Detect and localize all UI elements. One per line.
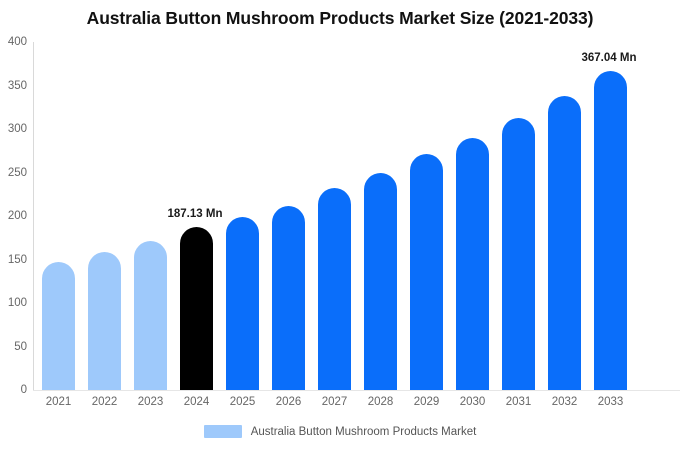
x-axis-baseline bbox=[33, 390, 680, 391]
x-axis-tick-2032: 2032 bbox=[542, 396, 588, 408]
bar-2023[interactable] bbox=[134, 241, 167, 390]
bar-2029[interactable] bbox=[410, 154, 443, 390]
x-axis-tick-2029: 2029 bbox=[404, 396, 450, 408]
bar-2027[interactable] bbox=[318, 188, 351, 390]
x-axis-tick-2024: 2024 bbox=[174, 396, 220, 408]
y-axis-tick-200: 200 bbox=[0, 210, 27, 222]
x-axis-tick-2023: 2023 bbox=[128, 396, 174, 408]
y-axis-tick-350: 350 bbox=[0, 80, 27, 92]
x-axis-tick-2028: 2028 bbox=[358, 396, 404, 408]
legend-label-0[interactable]: Australia Button Mushroom Products Marke… bbox=[251, 426, 477, 438]
x-axis-tick-2021: 2021 bbox=[36, 396, 82, 408]
legend-swatch-0 bbox=[204, 425, 242, 438]
y-axis-tick-50: 50 bbox=[0, 341, 27, 353]
value-label-2024: 187.13 Mn bbox=[168, 208, 223, 220]
x-axis-tick-2031: 2031 bbox=[496, 396, 542, 408]
bar-2021[interactable] bbox=[42, 262, 75, 390]
x-axis-tick-2030: 2030 bbox=[450, 396, 496, 408]
y-axis-tick-250: 250 bbox=[0, 167, 27, 179]
x-axis-tick-2025: 2025 bbox=[220, 396, 266, 408]
bar-2026[interactable] bbox=[272, 206, 305, 390]
x-axis-tick-2027: 2027 bbox=[312, 396, 358, 408]
bar-2030[interactable] bbox=[456, 138, 489, 390]
y-axis-tick-150: 150 bbox=[0, 254, 27, 266]
bar-2024[interactable] bbox=[180, 227, 213, 390]
bar-2022[interactable] bbox=[88, 252, 121, 390]
y-axis-tick-300: 300 bbox=[0, 123, 27, 135]
y-axis-tick-400: 400 bbox=[0, 36, 27, 48]
y-axis-labels: 050100150200250300350400 bbox=[0, 42, 27, 390]
bar-2025[interactable] bbox=[226, 217, 259, 390]
chart-legend: Australia Button Mushroom Products Marke… bbox=[0, 425, 680, 438]
y-axis-tick-0: 0 bbox=[0, 384, 27, 396]
x-axis-tick-2026: 2026 bbox=[266, 396, 312, 408]
value-label-2033: 367.04 Mn bbox=[582, 52, 637, 64]
chart-container: Australia Button Mushroom Products Marke… bbox=[0, 0, 680, 450]
bars-layer bbox=[33, 42, 680, 390]
bar-2033[interactable] bbox=[594, 71, 627, 390]
x-axis-labels: 2021202220232024202520262027202820292030… bbox=[33, 396, 680, 414]
x-axis-tick-2022: 2022 bbox=[82, 396, 128, 408]
x-axis-tick-2033: 2033 bbox=[588, 396, 634, 408]
bar-2031[interactable] bbox=[502, 118, 535, 390]
chart-title: Australia Button Mushroom Products Marke… bbox=[0, 8, 680, 29]
bar-2028[interactable] bbox=[364, 173, 397, 391]
bar-2032[interactable] bbox=[548, 96, 581, 390]
y-axis-tick-100: 100 bbox=[0, 297, 27, 309]
